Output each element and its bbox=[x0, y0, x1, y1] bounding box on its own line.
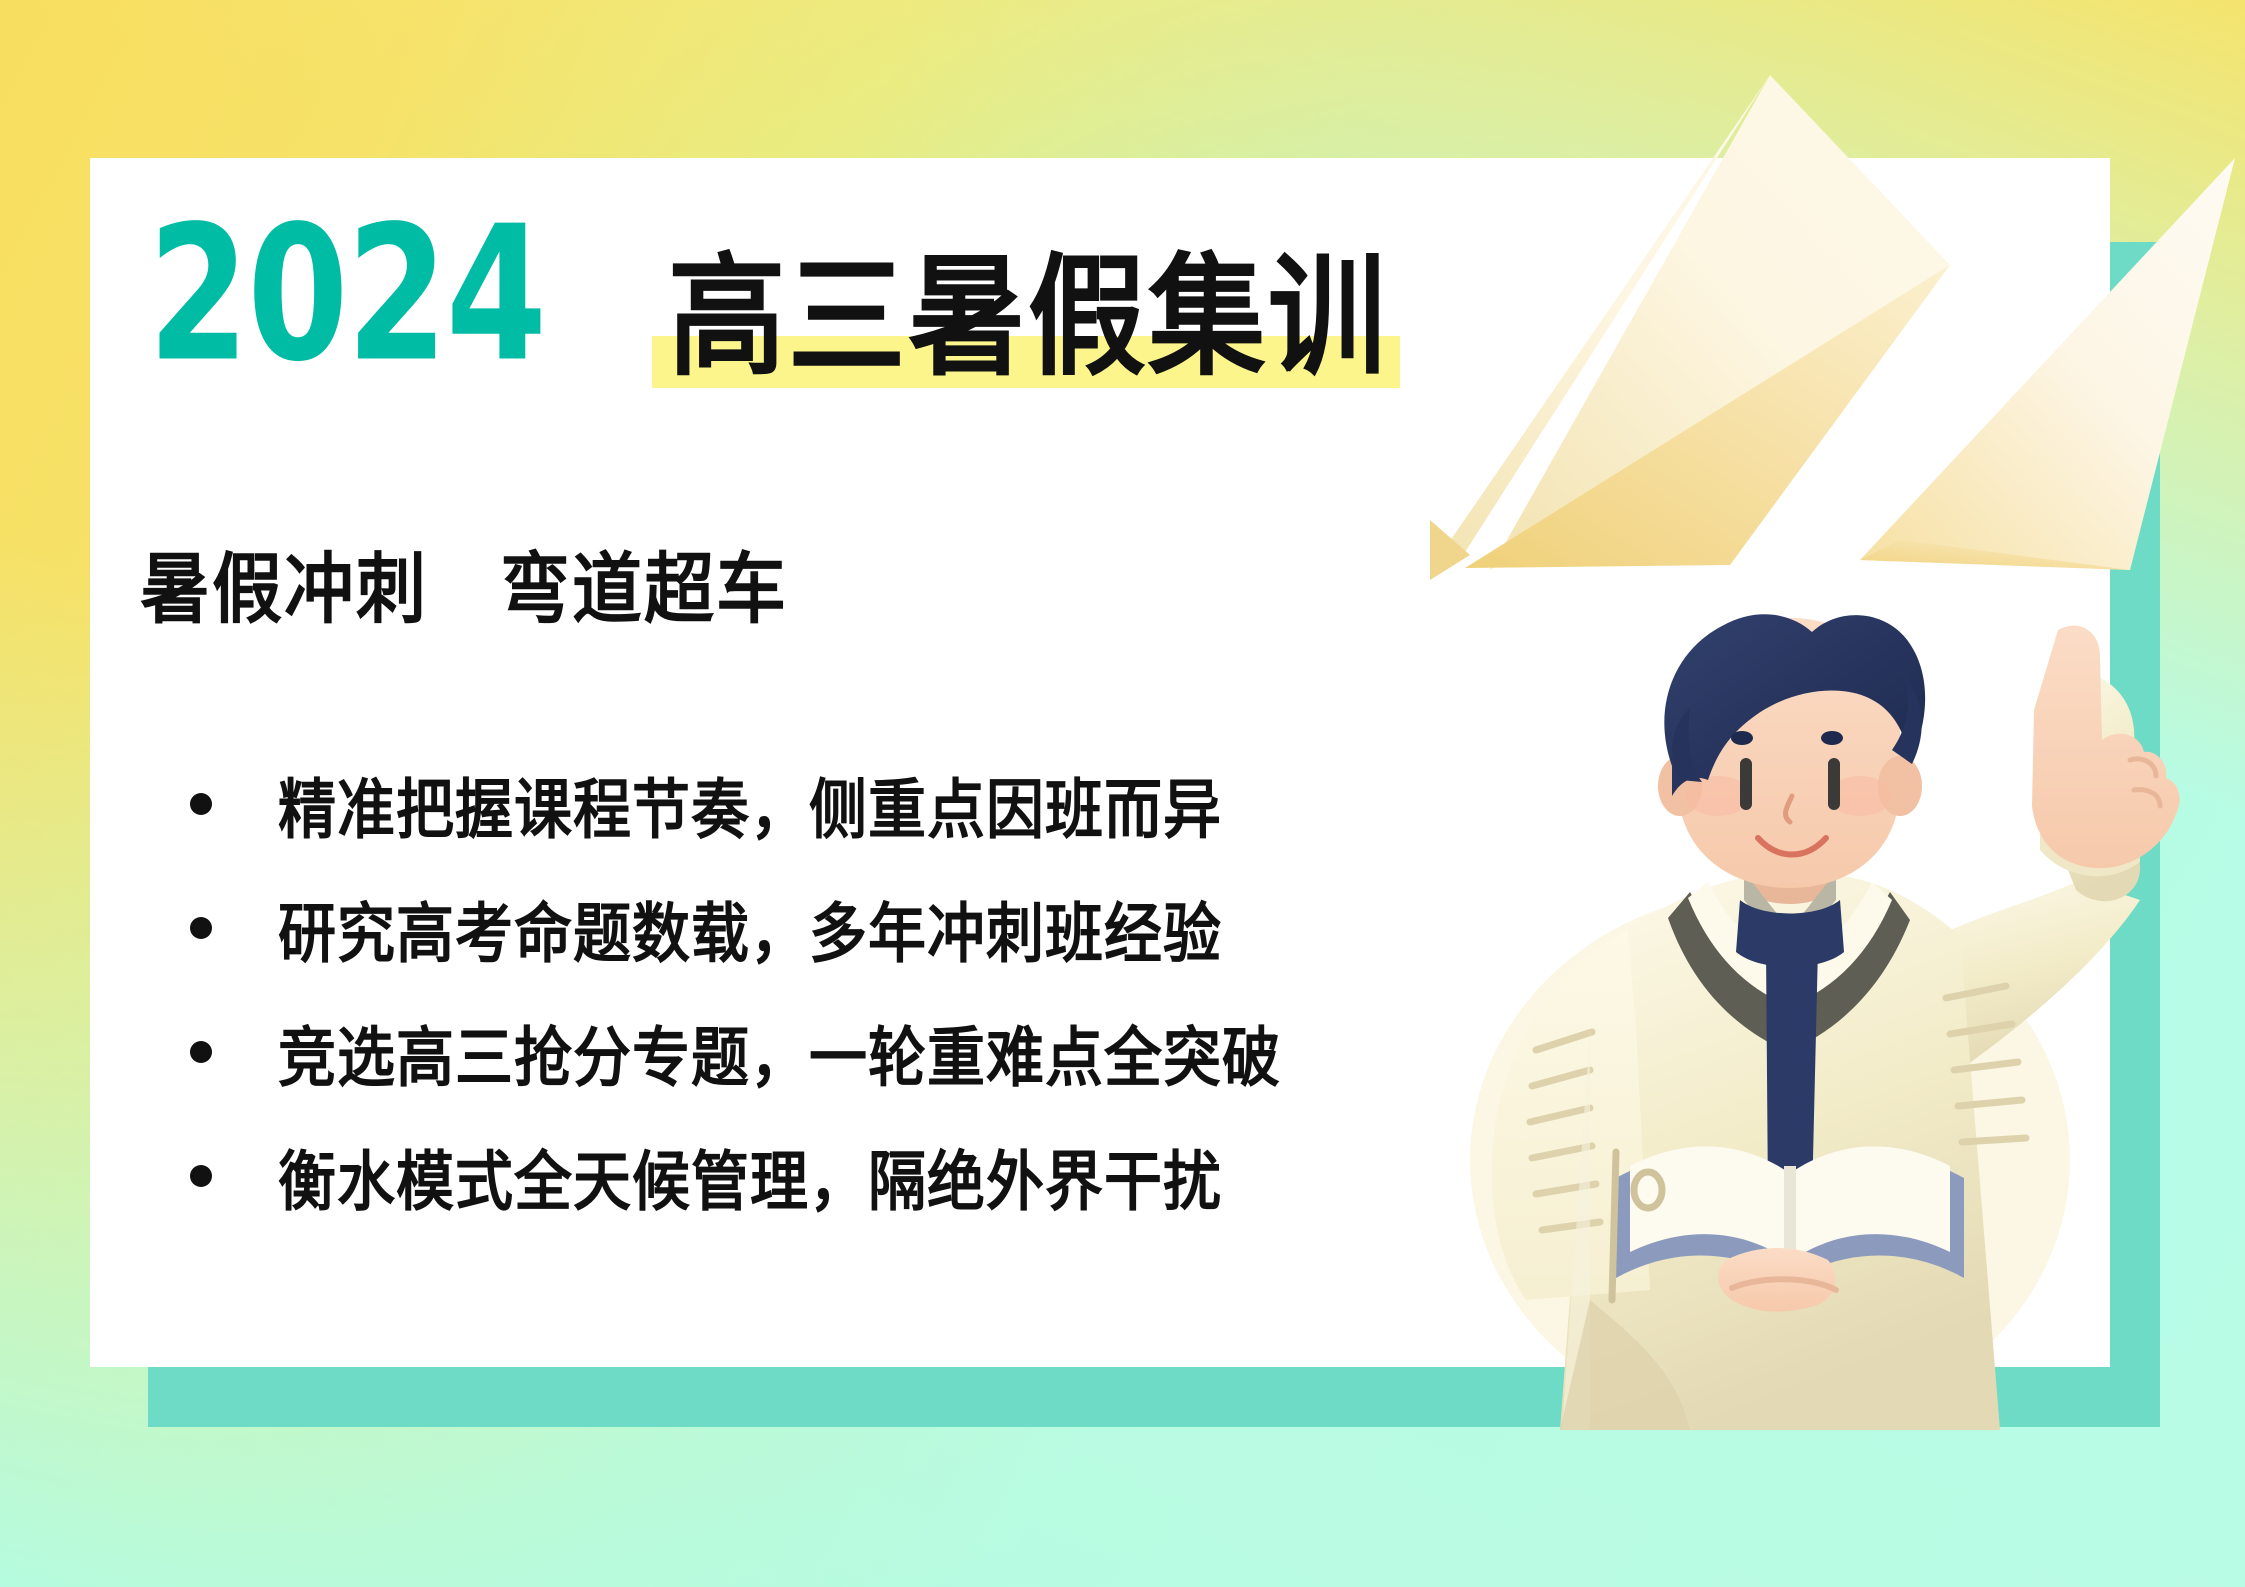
bullet-dot-icon bbox=[190, 917, 212, 939]
list-item: 衡水模式全天候管理，隔绝外界干扰 bbox=[190, 1114, 1281, 1238]
bullet-dot-icon bbox=[190, 793, 212, 815]
list-item-label: 研究高考命题数载，多年冲刺班经验 bbox=[278, 881, 1222, 975]
headline: 2024 高三暑假集训 bbox=[148, 218, 1388, 388]
list-item: 精准把握课程节奏，侧重点因班而异 bbox=[190, 742, 1281, 866]
poster-root: 2024 高三暑假集训 暑假冲刺 弯道超车 精准把握课程节奏，侧重点因班而异 研… bbox=[0, 0, 2245, 1587]
accent-bar-bottom bbox=[148, 1367, 2160, 1427]
list-item: 研究高考命题数载，多年冲刺班经验 bbox=[190, 866, 1281, 990]
list-item-label: 衡水模式全天候管理，隔绝外界干扰 bbox=[278, 1129, 1222, 1223]
bullet-dot-icon bbox=[190, 1041, 212, 1063]
list-item: 竞选高三抢分专题，一轮重难点全突破 bbox=[190, 990, 1281, 1114]
headline-title-wrap: 高三暑假集训 bbox=[668, 266, 1388, 388]
accent-bar-right bbox=[2108, 242, 2160, 1427]
headline-year: 2024 bbox=[148, 202, 545, 388]
bullet-dot-icon bbox=[190, 1165, 212, 1187]
list-item-label: 竞选高三抢分专题，一轮重难点全突破 bbox=[278, 1005, 1281, 1099]
subtitle: 暑假冲刺 弯道超车 bbox=[140, 528, 788, 639]
feature-list: 精准把握课程节奏，侧重点因班而异 研究高考命题数载，多年冲刺班经验 竞选高三抢分… bbox=[190, 742, 1281, 1238]
list-item-label: 精准把握课程节奏，侧重点因班而异 bbox=[278, 757, 1222, 851]
headline-title: 高三暑假集训 bbox=[668, 252, 1388, 384]
